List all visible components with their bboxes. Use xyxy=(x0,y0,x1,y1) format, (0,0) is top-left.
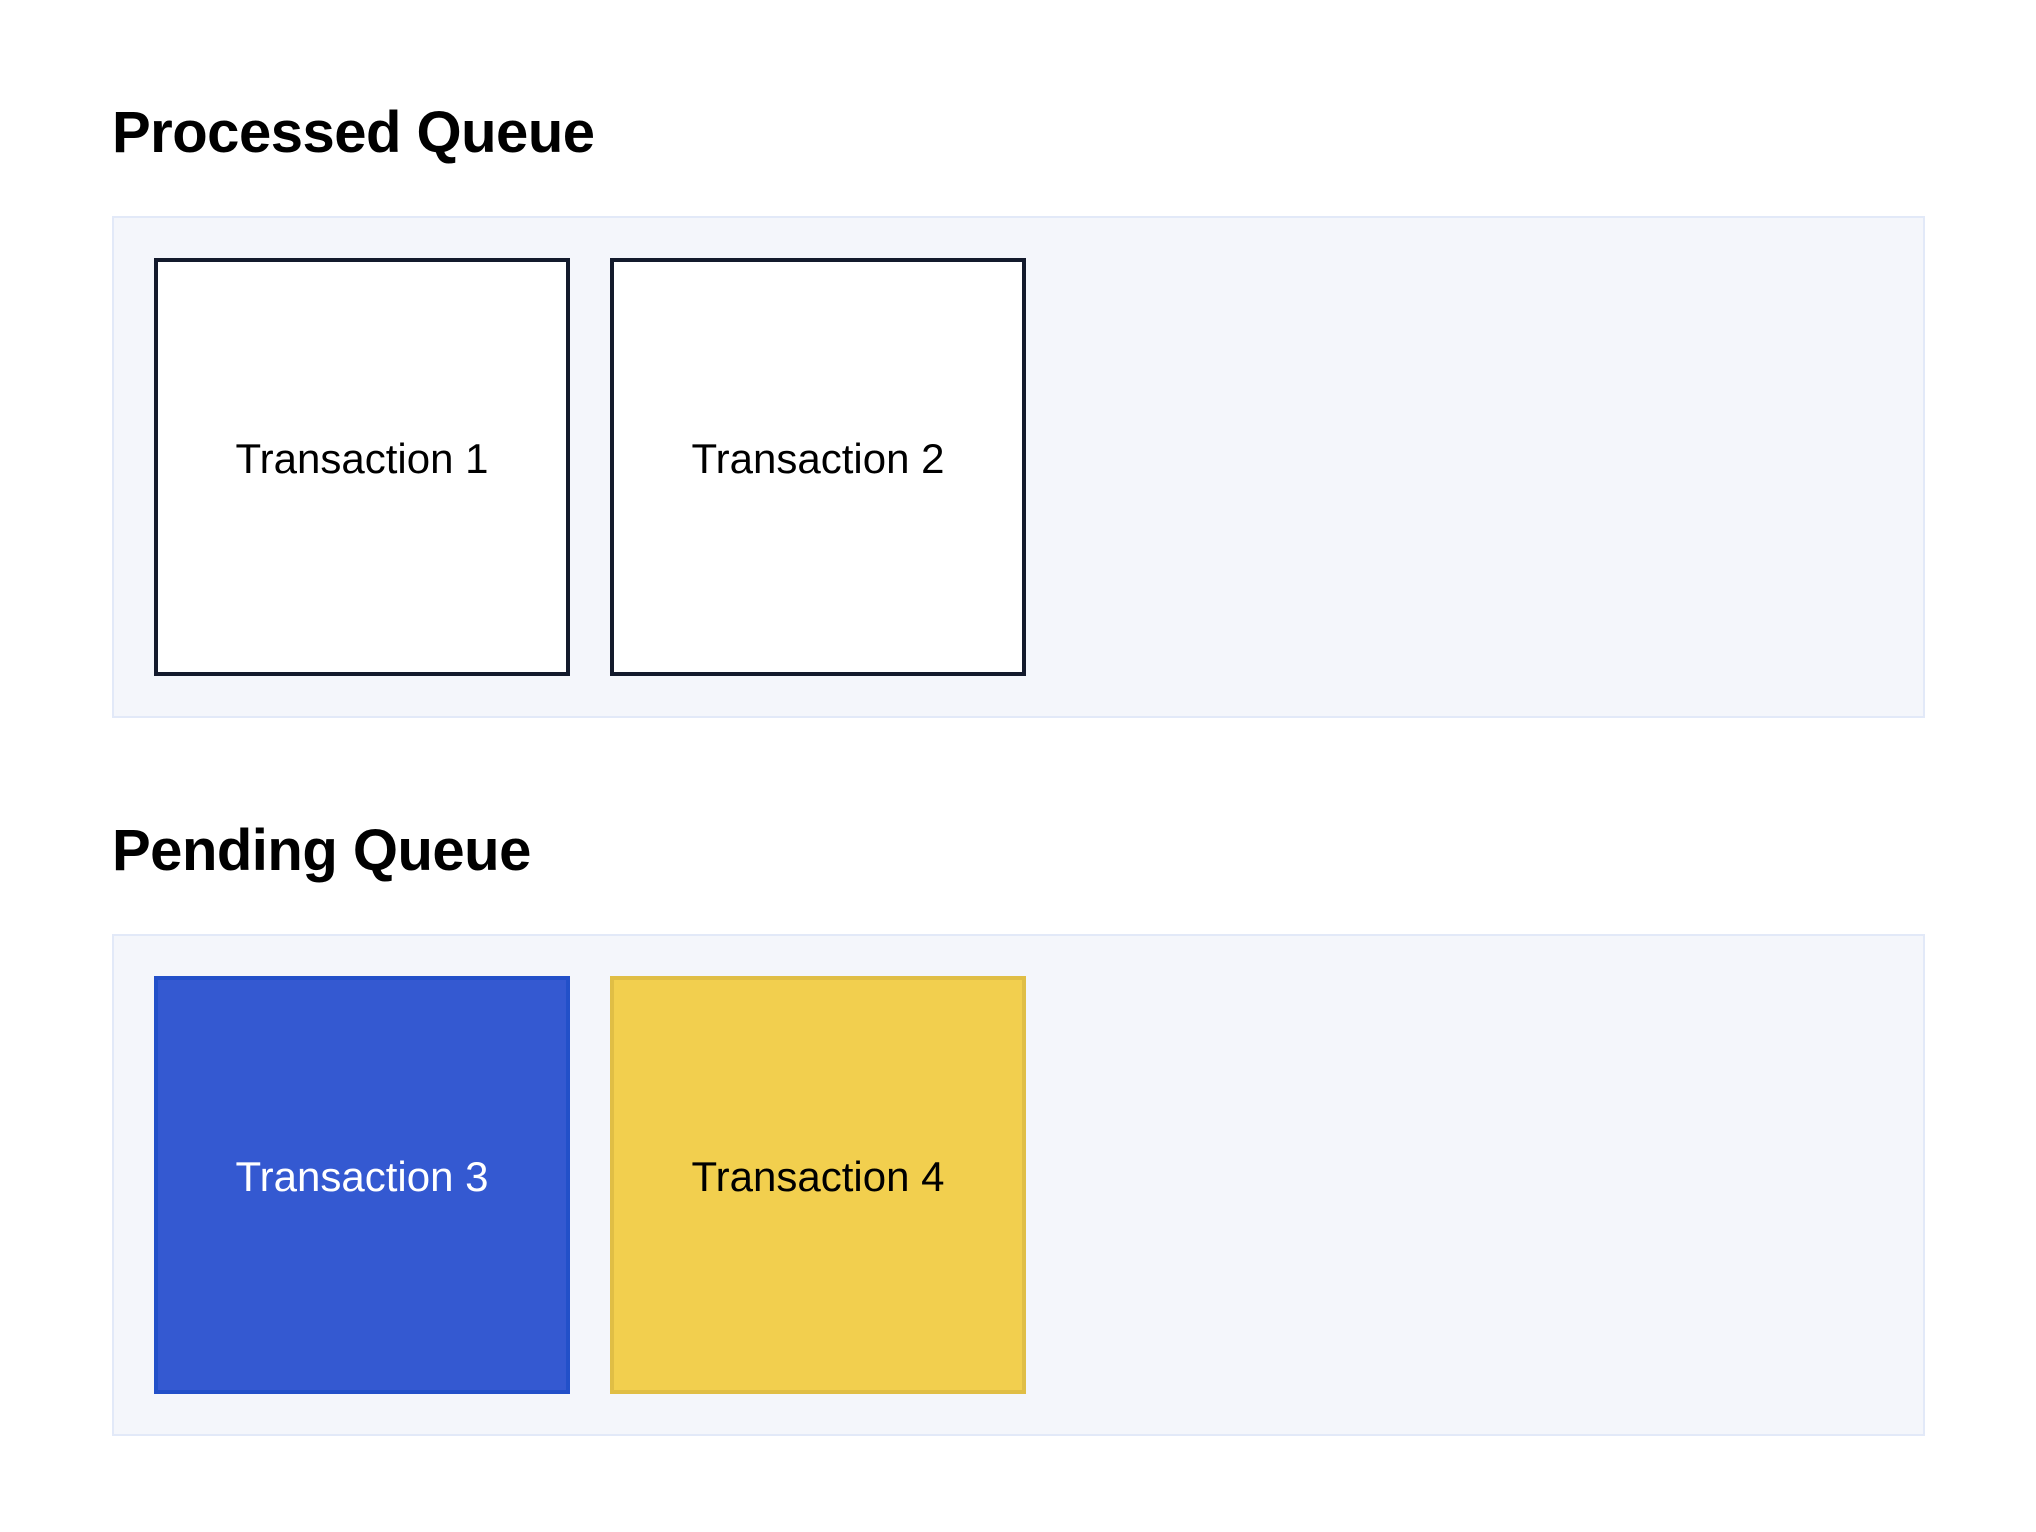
transaction-card-4-label: Transaction 4 xyxy=(692,1156,945,1198)
transaction-card-3-label: Transaction 3 xyxy=(236,1156,489,1198)
transaction-card-1-label: Transaction 1 xyxy=(236,438,489,480)
processed-queue-title: Processed Queue xyxy=(112,104,1925,162)
transaction-card-3[interactable]: Transaction 3 xyxy=(154,976,570,1394)
transaction-card-1[interactable]: Transaction 1 xyxy=(154,258,570,676)
transaction-card-2-label: Transaction 2 xyxy=(692,438,945,480)
pending-queue-section: Pending Queue Transaction 3 Transaction … xyxy=(112,822,1925,1436)
processed-queue-container: Transaction 1 Transaction 2 xyxy=(112,216,1925,718)
pending-queue-container: Transaction 3 Transaction 4 xyxy=(112,934,1925,1436)
transaction-card-2[interactable]: Transaction 2 xyxy=(610,258,1026,676)
page-root: Processed Queue Transaction 1 Transactio… xyxy=(0,0,2036,1532)
transaction-card-4[interactable]: Transaction 4 xyxy=(610,976,1026,1394)
processed-queue-section: Processed Queue Transaction 1 Transactio… xyxy=(112,104,1925,718)
pending-queue-title: Pending Queue xyxy=(112,822,1925,880)
